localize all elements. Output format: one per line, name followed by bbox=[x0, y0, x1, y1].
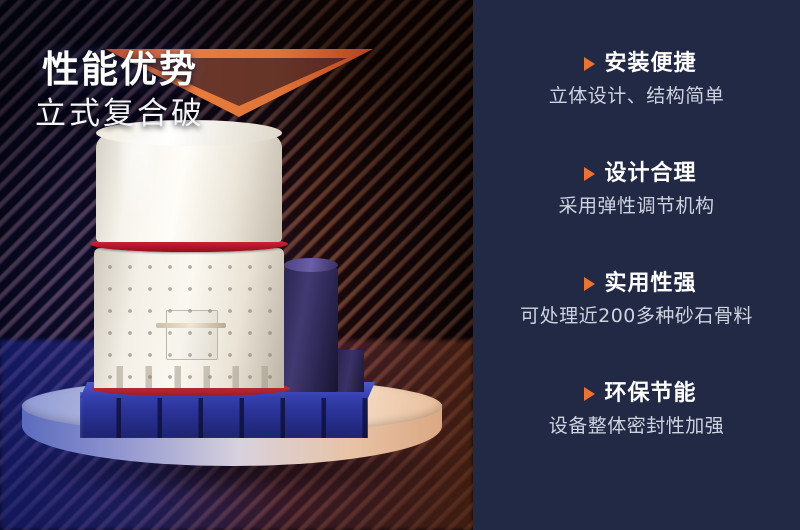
feature-item-3: 实用性强 可处理近200多种砂石骨料 bbox=[473, 272, 800, 382]
headline-block: 性能优势 立式复合破 bbox=[0, 0, 473, 150]
triangle-right-icon bbox=[584, 57, 595, 71]
feature-heading-1: 安装便捷 bbox=[473, 52, 800, 76]
machine-motor-top bbox=[284, 258, 338, 272]
feature-desc-4: 设备整体密封性加强 bbox=[473, 415, 800, 438]
page-subtitle: 立式复合破 bbox=[0, 88, 473, 133]
page-title: 性能优势 bbox=[0, 39, 473, 93]
feature-desc-2: 采用弹性调节机构 bbox=[473, 195, 800, 218]
product-feature-banner: 性能优势 立式复合破 安装便捷 立体设计、结构简单 设计合理 采用弹性调节机构 … bbox=[0, 0, 800, 530]
machine-base-ribs bbox=[80, 392, 368, 438]
triangle-right-icon bbox=[584, 387, 595, 401]
feature-item-4: 环保节能 设备整体密封性加强 bbox=[473, 382, 800, 492]
feature-item-2: 设计合理 采用弹性调节机构 bbox=[473, 162, 800, 272]
triangle-right-icon bbox=[584, 167, 595, 181]
machine-inspection-hatch bbox=[166, 310, 218, 360]
feature-item-1: 安装便捷 立体设计、结构简单 bbox=[473, 52, 800, 162]
feature-desc-3: 可处理近200多种砂石骨料 bbox=[473, 305, 800, 328]
feature-title-3: 实用性强 bbox=[604, 272, 696, 296]
feature-title-2: 设计合理 bbox=[604, 162, 696, 186]
feature-heading-2: 设计合理 bbox=[473, 162, 800, 186]
feature-list-panel: 安装便捷 立体设计、结构简单 设计合理 采用弹性调节机构 实用性强 可处理近20… bbox=[473, 0, 800, 530]
feature-title-1: 安装便捷 bbox=[604, 52, 696, 76]
feature-heading-4: 环保节能 bbox=[473, 382, 800, 406]
machine-hopper-highlight bbox=[122, 140, 152, 226]
machine-hatch-hinge bbox=[156, 323, 226, 328]
triangle-right-icon bbox=[584, 277, 595, 291]
feature-desc-1: 立体设计、结构简单 bbox=[473, 85, 800, 108]
feature-title-4: 环保节能 bbox=[604, 382, 696, 406]
crusher-machine-illustration bbox=[78, 108, 378, 438]
machine-motor bbox=[284, 266, 338, 392]
machine-control-box bbox=[334, 350, 364, 392]
product-image-panel: 性能优势 立式复合破 bbox=[0, 0, 473, 530]
feature-heading-3: 实用性强 bbox=[473, 272, 800, 296]
